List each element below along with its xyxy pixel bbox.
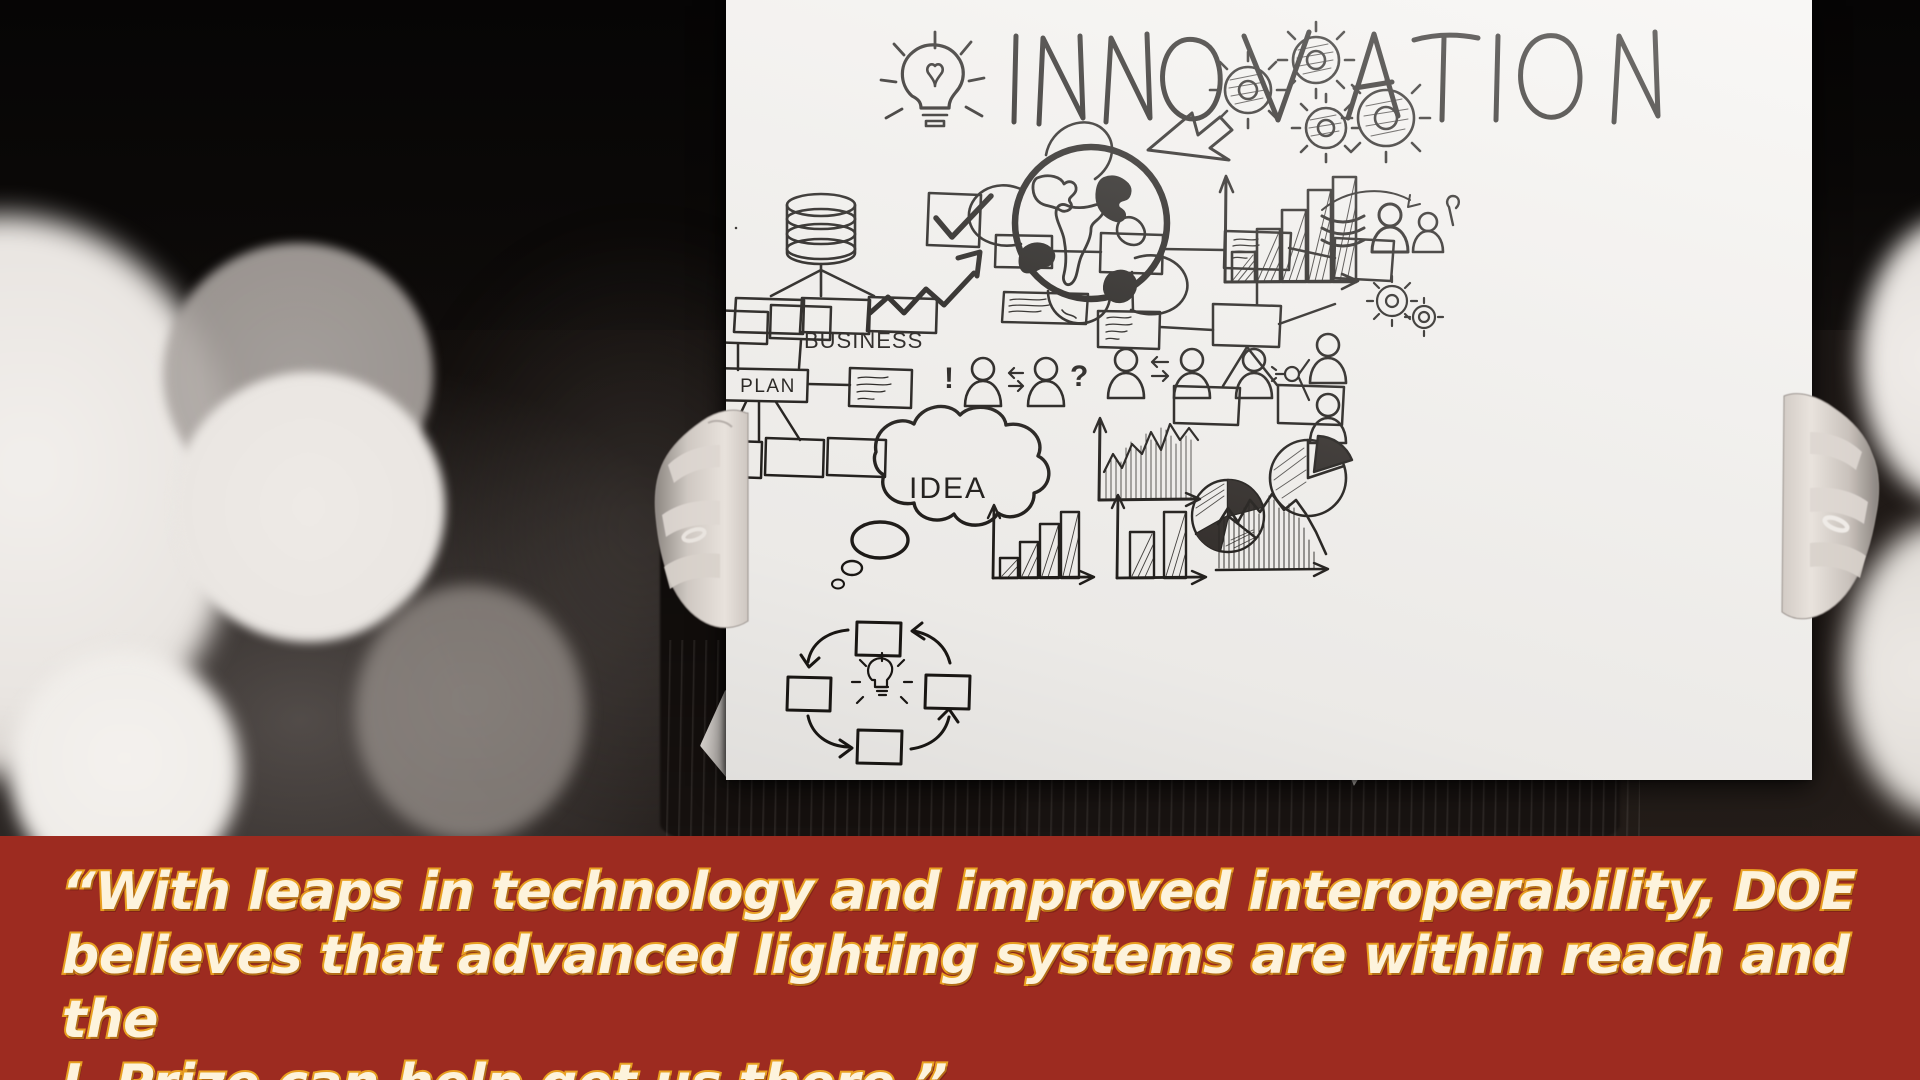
gears-icon <box>1210 22 1430 162</box>
lightbulb-icon <box>726 0 984 126</box>
question-label: ? <box>1070 360 1088 393</box>
idea-label: IDEA <box>909 472 987 505</box>
slide-canvas: PLAN BUSINESS ! <box>0 0 1920 1080</box>
bokeh-light-white-center <box>173 372 445 642</box>
left-hand <box>650 405 758 660</box>
exclamation-label: ! <box>944 362 954 395</box>
process-cycle-diagram <box>787 622 970 764</box>
bokeh-light-white-lower <box>10 650 240 836</box>
right-hand <box>1770 390 1882 655</box>
people-exchange-icon <box>1322 191 1459 252</box>
growth-arrow-icon <box>870 252 980 313</box>
people-pair-icon <box>1108 349 1210 398</box>
plan-label: PLAN <box>740 376 796 397</box>
people-network-icon <box>1236 334 1346 443</box>
poster-sketch-artwork: PLAN BUSINESS ! <box>726 0 1812 780</box>
small-gears-icon <box>1367 276 1443 336</box>
bokeh-light-gray-lower <box>355 585 585 836</box>
people-conversation-icon: ! ? <box>944 358 1088 406</box>
innovation-poster: PLAN BUSINESS ! <box>726 0 1812 780</box>
quote-banner: “With leaps in technology and improved i… <box>0 836 1920 1080</box>
pie-chart-icon <box>1192 480 1264 552</box>
pie-chart-exploded-icon <box>1270 436 1352 516</box>
quote-text: “With leaps in technology and improved i… <box>62 860 1862 1080</box>
line-chart-icon <box>1094 418 1200 506</box>
business-label: BUSINESS <box>804 328 923 353</box>
